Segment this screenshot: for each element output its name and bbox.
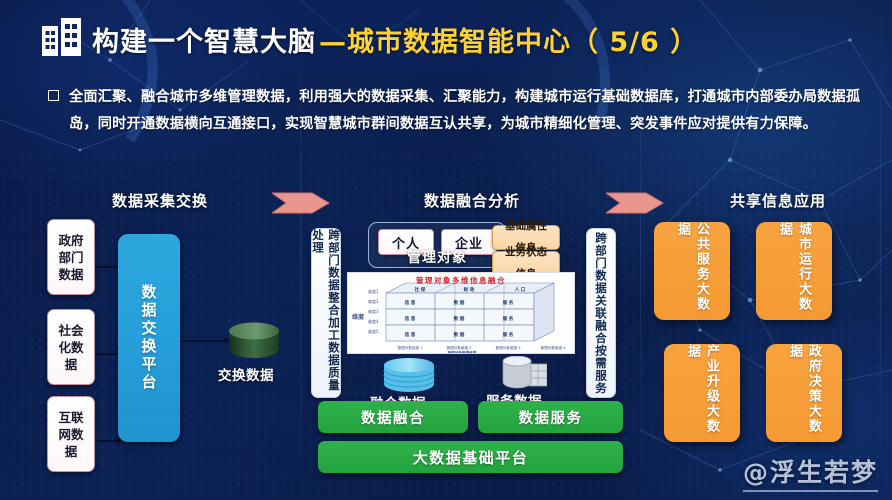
source-box-internet[interactable]: 互联网数据: [47, 396, 95, 472]
svg-text:数 据: 数 据: [454, 331, 465, 338]
svg-text:维度: 维度: [352, 313, 365, 321]
svg-text:服 务: 服 务: [503, 315, 514, 322]
svg-text:维度3: 维度3: [368, 308, 379, 314]
svg-text:管理对象维度 1: 管理对象维度 1: [398, 345, 423, 350]
source-box-social-label: 社会化数据: [57, 322, 85, 373]
page-title-main: 构建一个智慧大脑: [92, 20, 316, 59]
card-city-operation-bigdata-label: 城市运行大数据: [775, 222, 813, 320]
chevron-right-arrow-icon-1: [272, 190, 330, 216]
svg-text:维度1: 维度1: [368, 288, 379, 294]
square-bullet-icon: [48, 90, 59, 101]
panel-cross-department-integration-label: 跨部门数据整合加工数据质量处理: [310, 229, 342, 397]
bar-data-fusion-label: 数据融合: [361, 407, 425, 428]
svg-text:管理对象数据维度: 管理对象数据维度: [448, 350, 477, 354]
svg-text:管理对象维度 3: 管理对象维度 3: [496, 345, 521, 350]
section-header-share: 共享信息应用: [730, 190, 826, 211]
chevron-right-arrow-icon-2: [606, 190, 664, 216]
connector-line-social: [95, 353, 119, 355]
panel-cross-department-integration: 跨部门数据整合加工数据质量处理: [311, 228, 341, 398]
svg-text:财 政: 财 政: [463, 286, 475, 293]
source-box-government[interactable]: 政府部门数据: [47, 219, 95, 295]
attribute-box-business-line1: 业务状态: [505, 247, 547, 258]
card-industry-upgrade-bigdata-label: 产业升级大数据: [683, 344, 721, 442]
building-icon: [40, 16, 84, 58]
svg-text:信 息: 信 息: [405, 315, 416, 322]
svg-text:管理对象维度 4: 管理对象维度 4: [541, 345, 567, 350]
3d-matrix-cube-diagram: 管理对象多维信息融合: [347, 272, 575, 354]
svg-text:服 务: 服 务: [503, 331, 514, 338]
attribute-box-basic-line1: 基础属性: [505, 221, 547, 232]
blue-layered-database-icon: [383, 358, 435, 392]
slide-header: 构建一个智慧大脑 —城市数据智能中心（ 5/6 ）: [0, 0, 892, 70]
bullet-paragraph-row: 全面汇聚、融合城市多维管理数据，利用强大的数据采集、汇聚能力，构建城市运行基础数…: [48, 84, 866, 138]
exchange-data-label: 交换数据: [218, 364, 274, 384]
grey-grid-database-icon: [495, 356, 547, 390]
green-cylinder-database-icon: [228, 322, 280, 358]
card-public-service-bigdata[interactable]: 公共服务大数据: [654, 222, 730, 320]
3d-matrix-cube-diagram-title: 管理对象多维信息融合: [348, 275, 574, 286]
svg-text:数 据: 数 据: [454, 315, 465, 322]
connector-line-government: [95, 266, 119, 268]
card-public-service-bigdata-label: 公共服务大数据: [673, 222, 711, 320]
page-title-accent: —城市数据智能中心（ 5/6 ）: [319, 20, 698, 59]
svg-text:维度4: 维度4: [368, 318, 379, 324]
bar-data-service[interactable]: 数据服务: [478, 401, 623, 433]
card-government-decision-bigdata[interactable]: 政府决策大数据: [766, 344, 842, 442]
source-box-social[interactable]: 社会化数据: [47, 309, 95, 385]
svg-text:管理对象维度 2: 管理对象维度 2: [447, 345, 472, 350]
svg-text:信 息: 信 息: [405, 299, 416, 306]
card-city-operation-bigdata[interactable]: 城市运行大数据: [756, 222, 832, 320]
slide-canvas: 构建一个智慧大脑 —城市数据智能中心（ 5/6 ） 全面汇聚、融合城市多维管理数…: [0, 0, 892, 500]
bullet-paragraph-text: 全面汇聚、融合城市多维管理数据，利用强大的数据采集、汇聚能力，构建城市运行基础数…: [69, 84, 866, 138]
svg-text:服 务: 服 务: [503, 299, 514, 306]
svg-text:维度2: 维度2: [368, 298, 379, 304]
data-exchange-platform-label: 数据交换平台: [139, 284, 160, 392]
connector-line-platform-to-store: [180, 340, 227, 342]
source-box-internet-label: 互联网数据: [57, 409, 85, 460]
svg-text:数 据: 数 据: [454, 299, 465, 306]
section-header-collect: 数据采集交换: [112, 190, 208, 211]
svg-text:社 保: 社 保: [414, 286, 426, 293]
svg-text:人 口: 人 口: [514, 286, 526, 293]
connector-line-internet: [95, 440, 119, 442]
managed-object-label: 管理对象: [375, 247, 499, 267]
panel-cross-department-association-label: 跨部门数据关联融合按需服务: [593, 232, 609, 395]
watermark: @浮生若梦: [743, 453, 878, 492]
bar-data-fusion[interactable]: 数据融合: [318, 401, 468, 433]
card-industry-upgrade-bigdata[interactable]: 产业升级大数据: [664, 344, 740, 442]
bar-bigdata-platform[interactable]: 大数据基础平台: [318, 441, 623, 473]
panel-cross-department-association: 跨部门数据关联融合按需服务: [586, 228, 616, 398]
svg-text:信 息: 信 息: [405, 331, 416, 338]
card-government-decision-bigdata-label: 政府决策大数据: [785, 344, 823, 442]
data-exchange-platform-box[interactable]: 数据交换平台: [118, 234, 180, 442]
page-title: 构建一个智慧大脑 —城市数据智能中心（ 5/6 ）: [92, 17, 698, 61]
svg-text:维度5: 维度5: [368, 328, 379, 334]
section-header-fusion: 数据融合分析: [424, 190, 520, 211]
bar-bigdata-platform-label: 大数据基础平台: [413, 447, 529, 468]
source-box-government-label: 政府部门数据: [57, 232, 85, 283]
bar-data-service-label: 数据服务: [519, 407, 583, 428]
